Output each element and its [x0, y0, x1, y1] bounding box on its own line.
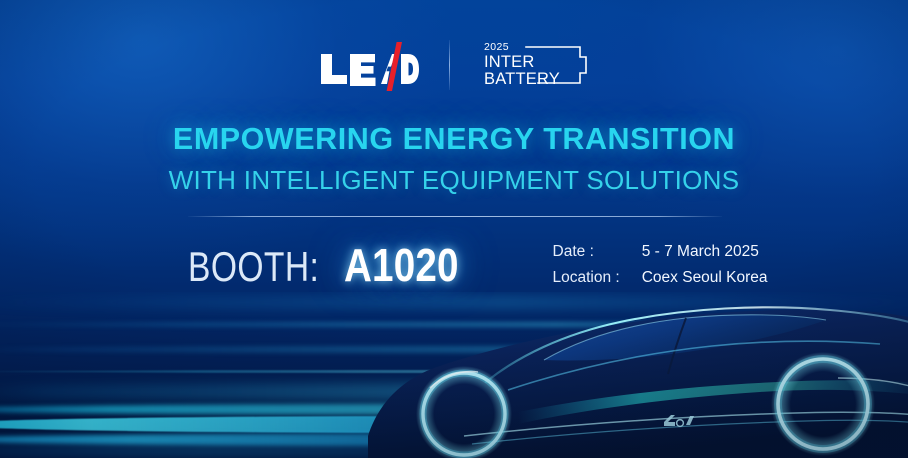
sports-car-graphic [368, 286, 908, 458]
headline-primary: EMPOWERING ENERGY TRANSITION [0, 122, 908, 157]
booth-label: BOOTH: [188, 243, 319, 291]
interbattery-logo: 2025 INTER BATTERY [480, 36, 590, 94]
headline-block: EMPOWERING ENERGY TRANSITION WITH INTELL… [0, 122, 908, 196]
lead-logo [319, 36, 419, 94]
location-label: Location : [553, 269, 620, 287]
svg-text:INTER: INTER [484, 53, 535, 71]
event-details: Date : 5 - 7 March 2025 Location : Coex … [553, 243, 768, 287]
svg-text:BATTERY: BATTERY [484, 70, 560, 88]
date-label: Date : [553, 243, 620, 261]
svg-text:2025: 2025 [484, 41, 509, 53]
headline-secondary: WITH INTELLIGENT EQUIPMENT SOLUTIONS [0, 165, 908, 196]
info-row: BOOTH: A1020 Date : 5 - 7 March 2025 Loc… [188, 232, 740, 298]
date-value: 5 - 7 March 2025 [642, 243, 768, 261]
booth-block: BOOTH: A1020 [188, 238, 481, 292]
event-promo-banner: 2025 INTER BATTERY EMPOWERING ENERGY TRA… [0, 0, 908, 458]
logo-separator [449, 40, 450, 90]
location-value: Coex Seoul Korea [642, 269, 768, 287]
booth-number: A1020 [344, 238, 459, 292]
logo-row: 2025 INTER BATTERY [0, 34, 908, 96]
speed-streaks [0, 292, 908, 458]
section-divider [188, 216, 722, 217]
